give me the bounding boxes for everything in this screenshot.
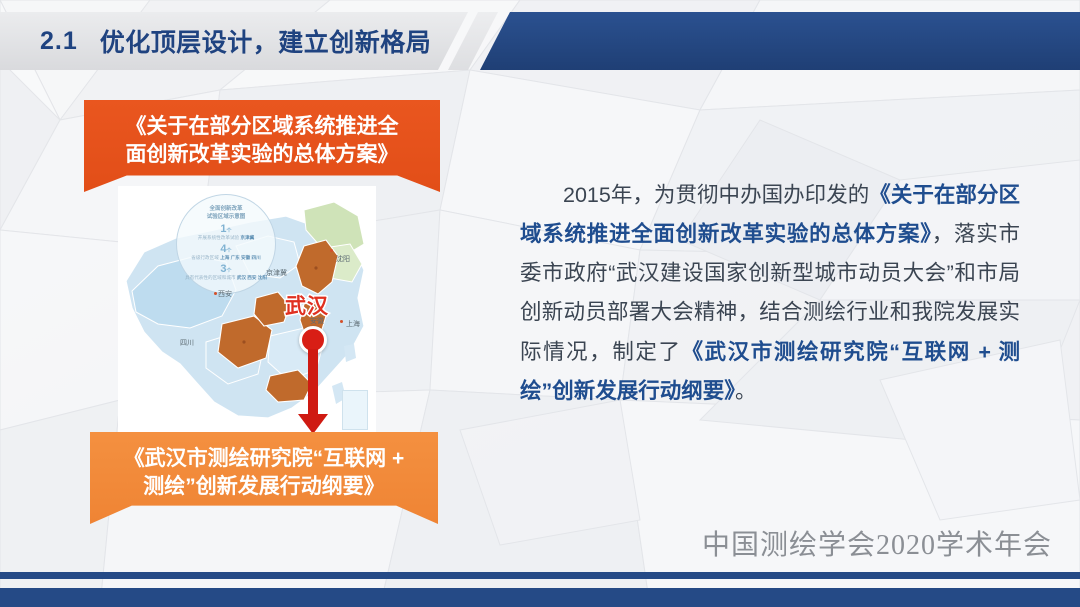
ribbon-top-line1: 《关于在部分区域系统推进全 — [126, 113, 399, 141]
ribbon-bottom-line2: 测绘”创新发展行动纲要》 — [124, 473, 405, 501]
slide-canvas: 2.1 优化顶层设计，建立创新格局 《关于在部分区域系统推进全 面创新改革实验的… — [0, 0, 1080, 607]
city-dot-xian — [214, 292, 217, 295]
legend-title-line2: 试验区域示意图 — [207, 214, 246, 222]
ribbon-top-line2: 面创新改革实验的总体方案》 — [126, 141, 399, 169]
legend-desc-3: 具有代表性的区域和城市 武汉 西安 沈阳 — [185, 275, 267, 282]
city-dot-shenyang — [330, 249, 333, 252]
down-arrow-head-icon — [298, 414, 328, 434]
body-segment-4: 。 — [735, 379, 757, 403]
legend-count-1: 1个 — [220, 223, 231, 235]
down-arrow-shaft-icon — [308, 349, 318, 419]
footer-bar-thick — [0, 588, 1080, 607]
legend-desc-1: 开展系统性改革试验 京津冀 — [198, 235, 254, 242]
china-map-panel[interactable]: 全面创新改革 试验区域示意图 1个 开展系统性改革试验 京津冀 4个 省级行政区… — [118, 186, 376, 436]
legend-count-2: 4个 — [220, 243, 231, 255]
header-banner — [0, 12, 1080, 70]
city-dot-shanghai — [340, 320, 343, 323]
body-segment-0: 2015年，为贯彻中办国办印发的 — [563, 183, 869, 207]
ribbon-bottom-line1: 《武汉市测绘研究院“互联网 + — [124, 445, 405, 473]
south-sea-inset-map — [342, 390, 368, 430]
legend-desc-2: 省级行政区域 上海 广东 安徽 四川 — [191, 255, 260, 262]
footer-bar-thin — [0, 572, 1080, 579]
legend-count-3: 3个 — [220, 263, 231, 275]
map-legend-circle: 全面创新改革 试验区域示意图 1个 开展系统性改革试验 京津冀 4个 省级行政区… — [176, 194, 276, 294]
body-paragraph: 2015年，为贯彻中办国办印发的《关于在部分区域系统推进全面创新改革实验的总体方… — [520, 176, 1020, 411]
footer-conference-title: 中国测绘学会2020学术年会 — [702, 523, 1052, 563]
map-label-wuhan: 武汉 — [285, 290, 329, 320]
